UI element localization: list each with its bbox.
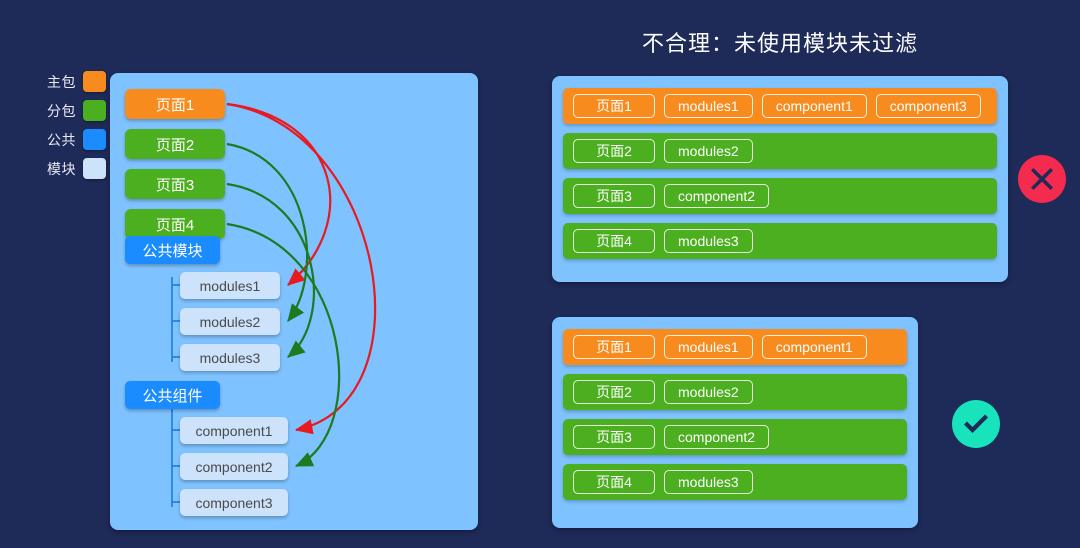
unfiltered-bundle-chip[interactable]: component3 bbox=[876, 94, 981, 118]
tree-node-page-4[interactable]: 页面4 bbox=[125, 209, 225, 239]
unfiltered-bundle-row: 页面3component2 bbox=[563, 178, 997, 214]
legend-color-swatch bbox=[83, 158, 106, 179]
legend-color-swatch bbox=[83, 129, 106, 150]
legend-item-label: 主包 bbox=[47, 72, 76, 92]
filtered-bundle-row: 页面4modules3 bbox=[563, 464, 907, 500]
success-icon bbox=[952, 400, 1000, 448]
filtered-bundle-chip[interactable]: modules2 bbox=[664, 380, 753, 404]
legend-item: 模块 bbox=[28, 157, 106, 180]
filtered-bundle-chip[interactable]: modules3 bbox=[664, 470, 753, 494]
unfiltered-bundle-chip[interactable]: modules2 bbox=[664, 139, 753, 163]
filtered-bundle-chip[interactable]: 页面1 bbox=[573, 335, 655, 359]
dependency-tree-panel: 页面1 页面2 页面3 页面4 公共模块 modules1 modules2 m… bbox=[110, 73, 478, 530]
filtered-bundle-row: 页面3component2 bbox=[563, 419, 907, 455]
unfiltered-bundle-row: 页面2modules2 bbox=[563, 133, 997, 169]
legend-item-label: 公共 bbox=[47, 130, 76, 150]
unfiltered-bundle-chip[interactable]: modules1 bbox=[664, 94, 753, 118]
legend: 主包分包公共模块 bbox=[28, 70, 106, 186]
tree-node-component2[interactable]: component2 bbox=[180, 453, 288, 480]
legend-item: 公共 bbox=[28, 128, 106, 151]
unfiltered-bundle-chip[interactable]: 页面4 bbox=[573, 229, 655, 253]
filtered-bundle-chip[interactable]: 页面2 bbox=[573, 380, 655, 404]
unfiltered-bundle-row: 页面1modules1component1component3 bbox=[563, 88, 997, 124]
bundle-panel-filtered: 页面1modules1component1页面2modules2页面3compo… bbox=[552, 317, 918, 528]
legend-item: 分包 bbox=[28, 99, 106, 122]
unfiltered-bundle-row: 页面4modules3 bbox=[563, 223, 997, 259]
tree-node-modules3[interactable]: modules3 bbox=[180, 344, 280, 371]
diagram-canvas: 主包分包公共模块 bbox=[0, 0, 1080, 548]
filtered-bundle-chip[interactable]: 页面4 bbox=[573, 470, 655, 494]
bundle-panel-unfiltered: 页面1modules1component1component3页面2module… bbox=[552, 76, 1008, 282]
filtered-bundle-chip[interactable]: component1 bbox=[762, 335, 867, 359]
tree-node-component1[interactable]: component1 bbox=[180, 417, 288, 444]
unfiltered-bundle-chip[interactable]: 页面2 bbox=[573, 139, 655, 163]
tree-node-group-common-components[interactable]: 公共组件 bbox=[125, 381, 220, 409]
unfiltered-bundle-chip[interactable]: 页面1 bbox=[573, 94, 655, 118]
unfiltered-bundle-chip[interactable]: component2 bbox=[664, 184, 769, 208]
legend-color-swatch bbox=[83, 71, 106, 92]
tree-node-page-2[interactable]: 页面2 bbox=[125, 129, 225, 159]
legend-item: 主包 bbox=[28, 70, 106, 93]
error-icon bbox=[1018, 155, 1066, 203]
filtered-bundle-chip[interactable]: 页面3 bbox=[573, 425, 655, 449]
tree-node-component3[interactable]: component3 bbox=[180, 489, 288, 516]
unfiltered-bundle-chip[interactable]: modules3 bbox=[664, 229, 753, 253]
filtered-bundle-row: 页面2modules2 bbox=[563, 374, 907, 410]
filtered-bundle-row: 页面1modules1component1 bbox=[563, 329, 907, 365]
tree-node-modules1[interactable]: modules1 bbox=[180, 272, 280, 299]
legend-item-label: 模块 bbox=[47, 159, 76, 179]
tree-node-modules2[interactable]: modules2 bbox=[180, 308, 280, 335]
page-title: 不合理：未使用模块未过滤 bbox=[552, 26, 1008, 58]
filtered-bundle-chip[interactable]: modules1 bbox=[664, 335, 753, 359]
tree-node-group-common-modules[interactable]: 公共模块 bbox=[125, 236, 220, 264]
tree-node-page-3[interactable]: 页面3 bbox=[125, 169, 225, 199]
legend-item-label: 分包 bbox=[47, 101, 76, 121]
tree-node-page-1[interactable]: 页面1 bbox=[125, 89, 225, 119]
filtered-bundle-chip[interactable]: component2 bbox=[664, 425, 769, 449]
unfiltered-bundle-chip[interactable]: component1 bbox=[762, 94, 867, 118]
legend-color-swatch bbox=[83, 100, 106, 121]
unfiltered-bundle-chip[interactable]: 页面3 bbox=[573, 184, 655, 208]
